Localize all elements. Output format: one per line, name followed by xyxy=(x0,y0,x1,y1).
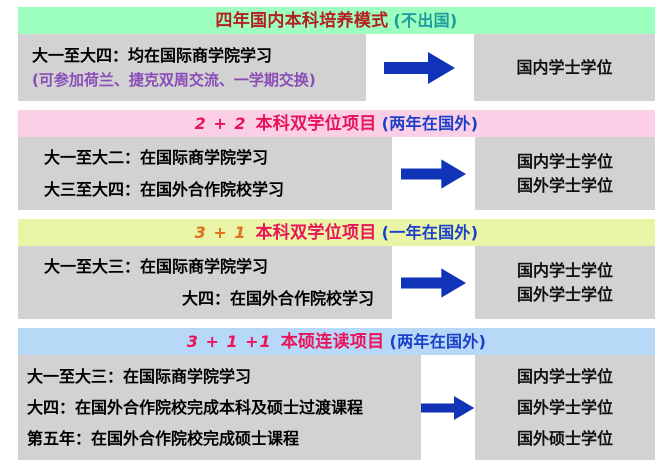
program-title: 本科双学位项目 xyxy=(255,114,376,134)
degree-item: 国内学士学位 xyxy=(517,259,613,283)
stage-line: 大一至大二：在国际商学院学习 xyxy=(44,146,392,169)
program-degrees: 国内学士学位 国外学士学位 xyxy=(475,137,655,210)
degree-item: 国内学士学位 xyxy=(517,361,613,392)
program-body: 大一至大四：均在国际商学院学习 (可参加荷兰、捷克双周交流、一学期交换) 国内学… xyxy=(18,34,655,101)
stage-line: 大三至大四：在国外合作院校学习 xyxy=(44,178,392,201)
degree-item: 国外学士学位 xyxy=(517,392,613,423)
arrow-cell xyxy=(392,137,475,210)
stage-line: 大一至大四：均在国际商学院学习 xyxy=(32,44,366,67)
degree-item: 国内学士学位 xyxy=(517,150,613,174)
stage-line: 大四：在国外合作院校完成本科及硕士过渡课程 xyxy=(27,396,421,419)
right-arrow-icon xyxy=(401,158,467,190)
stage-line: 大四：在国外合作院校学习 xyxy=(44,287,374,310)
program-title: 本硕连读项目 xyxy=(281,332,385,352)
arrow-cell xyxy=(366,34,474,101)
degree-item: 国外硕士学位 xyxy=(517,423,613,454)
program-block-two-plus-two: 2 + 2本科双学位项目(两年在国外) 大一至大二：在国际商学院学习 大三至大四… xyxy=(18,110,655,210)
program-block-four-year-domestic: 四年国内本科培养模式(不出国) 大一至大四：均在国际商学院学习 (可参加荷兰、捷… xyxy=(18,7,655,101)
program-degrees: 国内学士学位 xyxy=(474,34,655,101)
program-block-three-plus-one-plus-one: 3 + 1 +1本硕连读项目(两年在国外) 大一至大三：在国际商学院学习 大四：… xyxy=(18,328,655,460)
program-header-two-plus-two: 2 + 2本科双学位项目(两年在国外) xyxy=(18,110,655,137)
program-note: (两年在国外) xyxy=(382,114,479,133)
program-note: (两年在国外) xyxy=(390,332,487,351)
program-header-four-year-domestic: 四年国内本科培养模式(不出国) xyxy=(18,7,655,34)
program-degrees: 国内学士学位 国外学士学位 xyxy=(475,246,655,319)
program-body: 大一至大三：在国际商学院学习 大四：在国外合作院校完成本科及硕士过渡课程 第五年… xyxy=(18,355,655,460)
stage-line: 大一至大三：在国际商学院学习 xyxy=(27,365,421,388)
program-code: 3 + 1 xyxy=(195,223,247,242)
program-comparison-infographic: 四年国内本科培养模式(不出国) 大一至大四：均在国际商学院学习 (可参加荷兰、捷… xyxy=(0,0,664,473)
right-arrow-icon xyxy=(401,267,467,299)
right-arrow-icon xyxy=(421,393,475,423)
right-arrow-icon xyxy=(384,51,456,85)
program-body: 大一至大二：在国际商学院学习 大三至大四：在国外合作院校学习 国内学士学位 国外… xyxy=(18,137,655,210)
arrow-cell xyxy=(421,355,475,460)
program-stages: 大一至大四：均在国际商学院学习 (可参加荷兰、捷克双周交流、一学期交换) xyxy=(18,34,366,101)
degree-item: 国内学士学位 xyxy=(516,56,612,80)
program-code: 3 + 1 +1 xyxy=(187,332,272,351)
stage-line: 第五年：在国外合作院校完成硕士课程 xyxy=(27,427,421,450)
arrow-cell xyxy=(392,246,475,319)
stage-line-note: (可参加荷兰、捷克双周交流、一学期交换) xyxy=(32,70,366,92)
program-stages: 大一至大二：在国际商学院学习 大三至大四：在国外合作院校学习 xyxy=(18,137,392,210)
program-header-three-plus-one: 3 + 1本科双学位项目(一年在国外) xyxy=(18,219,655,246)
program-code: 2 + 2 xyxy=(195,114,247,133)
stage-line: 大一至大三：在国际商学院学习 xyxy=(44,255,374,278)
program-stages: 大一至大三：在国际商学院学习 大四：在国外合作院校学习 xyxy=(18,246,392,319)
program-block-three-plus-one: 3 + 1本科双学位项目(一年在国外) 大一至大三：在国际商学院学习 大四：在国… xyxy=(18,219,655,319)
program-title: 四年国内本科培养模式 xyxy=(215,11,388,31)
program-degrees: 国内学士学位 国外学士学位 国外硕士学位 xyxy=(475,355,655,460)
program-note: (一年在国外) xyxy=(382,223,479,242)
degree-item: 国外学士学位 xyxy=(517,283,613,307)
program-header-three-plus-one-plus-one: 3 + 1 +1本硕连读项目(两年在国外) xyxy=(18,328,655,355)
program-title: 本科双学位项目 xyxy=(255,223,376,243)
program-stages: 大一至大三：在国际商学院学习 大四：在国外合作院校完成本科及硕士过渡课程 第五年… xyxy=(18,355,421,460)
program-body: 大一至大三：在国际商学院学习 大四：在国外合作院校学习 国内学士学位 国外学士学… xyxy=(18,246,655,319)
degree-item: 国外学士学位 xyxy=(517,174,613,198)
program-note: (不出国) xyxy=(393,11,457,30)
